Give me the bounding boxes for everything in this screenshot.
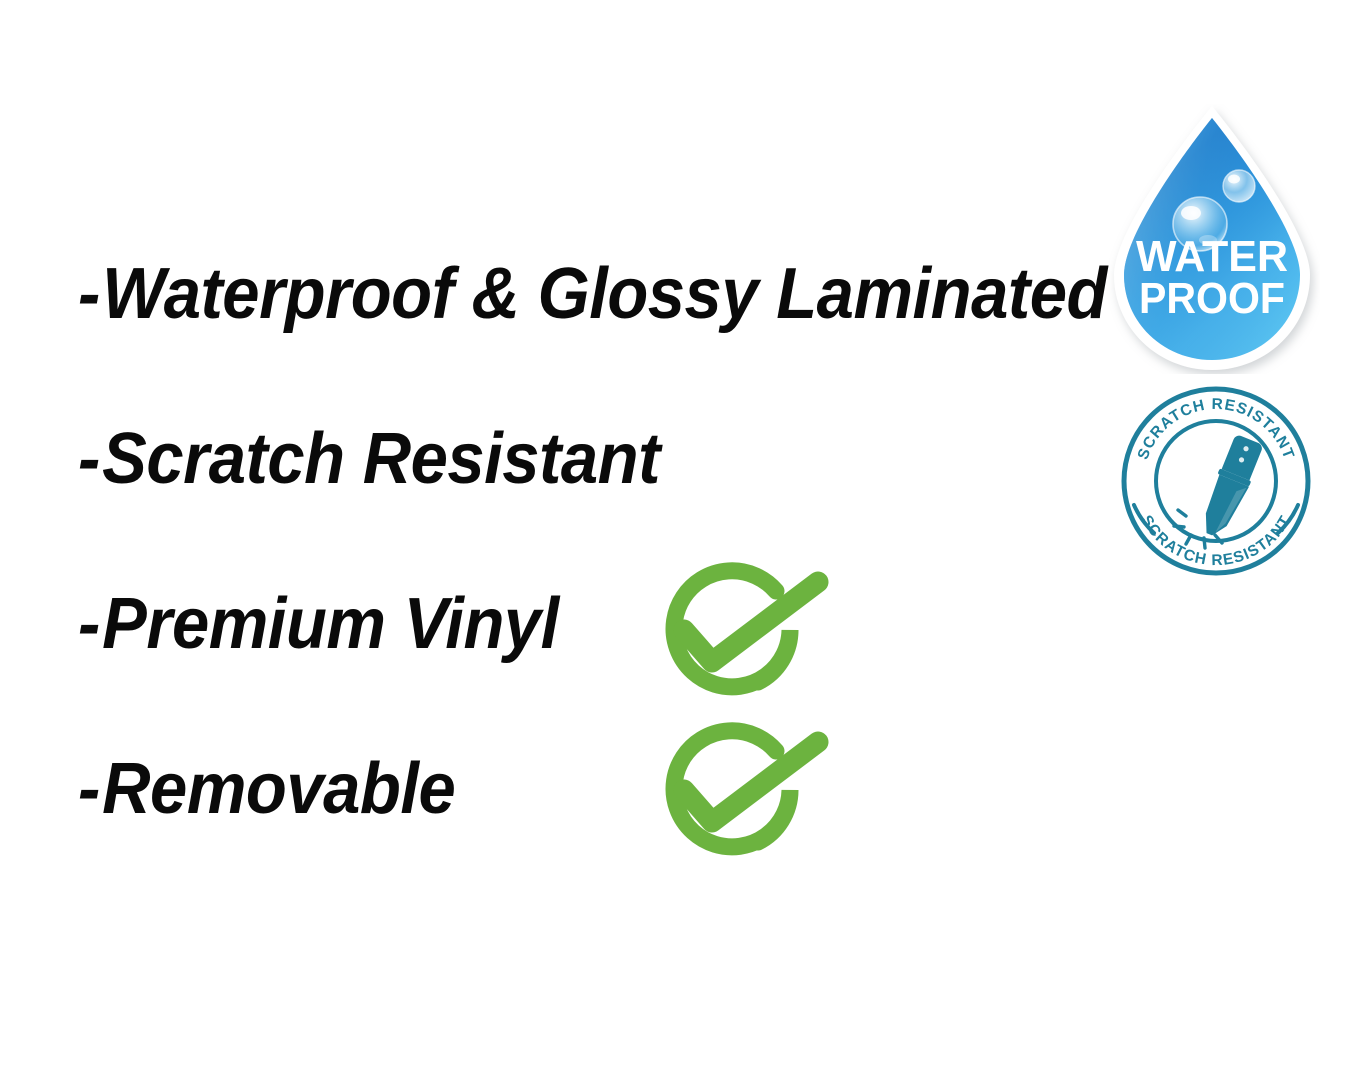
feature-bullet-dash: - (78, 254, 102, 334)
feature-list-graphic: -Waterproof & Glossy Laminated -Scratch … (0, 0, 1359, 1080)
check-icon-removable (640, 717, 836, 867)
feature-bullet-dash: - (78, 419, 102, 499)
feature-label: Waterproof & Glossy Laminated (102, 254, 1107, 334)
feature-label: Scratch Resistant (102, 419, 660, 499)
badge-outer-ring (1124, 389, 1308, 573)
feature-label: Premium Vinyl (102, 584, 559, 664)
scratch-resistant-badge: SCRATCH RESISTANT SCRATCH RESISTANT (1118, 383, 1314, 579)
feature-bullet-dash: - (78, 584, 102, 664)
feature-item-scratch-resistant: -Scratch Resistant (78, 423, 660, 495)
feature-item-removable: -Removable (78, 753, 455, 825)
waterproof-line2: PROOF (1139, 274, 1285, 323)
feature-bullet-dash: - (78, 749, 102, 829)
feature-item-waterproof: -Waterproof & Glossy Laminated (78, 258, 1107, 330)
feature-label: Removable (102, 749, 455, 829)
check-mark (684, 582, 818, 662)
check-icon-premium-vinyl (640, 557, 836, 707)
feature-item-premium-vinyl: -Premium Vinyl (78, 588, 559, 660)
check-mark (684, 742, 818, 822)
waterproof-badge: WATER PROOF (1104, 104, 1320, 374)
